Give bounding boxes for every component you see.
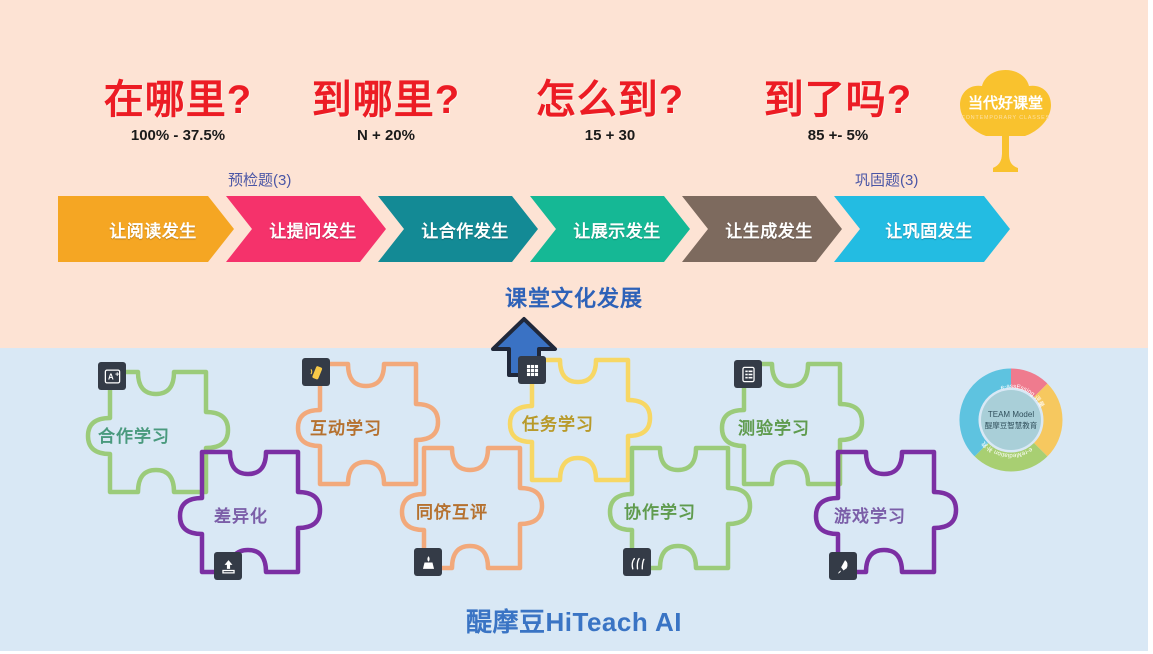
badge-checklist	[734, 360, 762, 388]
arrow-step-6[interactable]: 让巩固发生	[834, 196, 1010, 262]
product-title: 醍摩豆HiTeach AI	[0, 602, 1148, 639]
arrow-label: 让阅读发生	[95, 217, 197, 242]
clover-leaf-icon	[960, 70, 1051, 172]
question-column-4: 到了吗? 85 +- 5%	[748, 78, 928, 146]
badge-rocket	[829, 552, 857, 580]
arrow-label: 让生成发生	[711, 217, 813, 242]
question-title: 怎么到?	[520, 78, 700, 122]
badge-hands	[623, 548, 651, 576]
clicker-icon	[307, 363, 326, 382]
arrow-label: 让合作发生	[407, 217, 509, 242]
puzzle-label: 测验学习	[738, 414, 810, 439]
question-title: 在哪里?	[88, 78, 268, 122]
question-column-1: 在哪里? 100% - 37.5%	[88, 78, 268, 146]
question-column-2: 到哪里? N + 20%	[296, 78, 476, 146]
badge-clicker	[302, 358, 330, 386]
svg-text:+: +	[115, 370, 119, 378]
svg-text:A: A	[108, 372, 114, 381]
badge-upload	[214, 552, 242, 580]
logo-en-text: CONTEMPORARY CLASSES	[961, 115, 1050, 121]
team-model-center-line1: TEAM Model	[988, 410, 1034, 419]
team-model-logo: TEAM Model 醍摩豆智慧教育 e-assEssing 评量 e-reMe…	[957, 366, 1065, 474]
grid-icon	[523, 361, 542, 380]
puzzle-label: 差异化	[214, 502, 268, 527]
arrow-step-4[interactable]: 让展示发生	[530, 196, 690, 262]
badge-a-plus: A +	[98, 362, 126, 390]
question-title: 到了吗?	[748, 78, 928, 122]
checklist-icon	[739, 365, 758, 384]
badge-podium	[414, 548, 442, 576]
badge-grid	[518, 356, 546, 384]
team-model-center-line2: 醍摩豆智慧教育	[985, 420, 1038, 430]
podium-icon	[419, 553, 438, 572]
puzzle-label: 同侪互评	[416, 498, 488, 523]
arrow-step-5[interactable]: 让生成发生	[682, 196, 842, 262]
arrow-step-3[interactable]: 让合作发生	[378, 196, 538, 262]
puzzle-piece-game-learning[interactable]: 游戏学习	[802, 446, 974, 594]
puzzle-label: 互动学习	[310, 414, 382, 439]
question-title: 到哪里?	[296, 78, 476, 122]
arrow-step-2[interactable]: 让提问发生	[226, 196, 386, 262]
question-subtitle: 100% - 37.5%	[88, 126, 268, 146]
question-subtitle: 15 + 30	[520, 126, 700, 146]
arrow-label: 让提问发生	[255, 217, 357, 242]
hands-icon	[628, 553, 647, 572]
puzzle-label: 游戏学习	[834, 502, 906, 527]
logo-cn-text: 当代好课堂	[968, 94, 1043, 112]
contemporary-classes-logo: 当代好课堂 CONTEMPORARY CLASSES	[948, 58, 1063, 173]
question-subtitle: 85 +- 5%	[748, 126, 928, 146]
upload-icon	[219, 557, 238, 576]
question-subtitle: N + 20%	[296, 126, 476, 146]
puzzle-label: 协作学习	[624, 498, 696, 523]
arrow-label: 让巩固发生	[871, 217, 973, 242]
slide-canvas: 在哪里? 100% - 37.5% 到哪里? N + 20% 怎么到? 15 +…	[0, 0, 1153, 654]
puzzle-label: 合作学习	[98, 422, 170, 447]
culture-label: 课堂文化发展	[0, 281, 1148, 313]
question-column-3: 怎么到? 15 + 30	[520, 78, 700, 146]
arrow-step-1[interactable]: 让阅读发生	[58, 196, 234, 262]
puzzle-label: 任务学习	[522, 410, 594, 435]
arrow-label: 让展示发生	[559, 217, 661, 242]
arrow-tag-consolidate: 巩固题(3)	[855, 172, 918, 190]
rocket-icon	[834, 557, 853, 576]
process-arrow-chain: 让阅读发生 让提问发生 让合作发生 让展示发生 让生成发生 让巩固发生	[58, 196, 1018, 262]
a-plus-icon: A +	[103, 367, 122, 386]
segment-learning	[1041, 390, 1053, 449]
arrow-tag-pretest: 预检题(3)	[228, 172, 291, 190]
team-model-center	[981, 390, 1041, 450]
